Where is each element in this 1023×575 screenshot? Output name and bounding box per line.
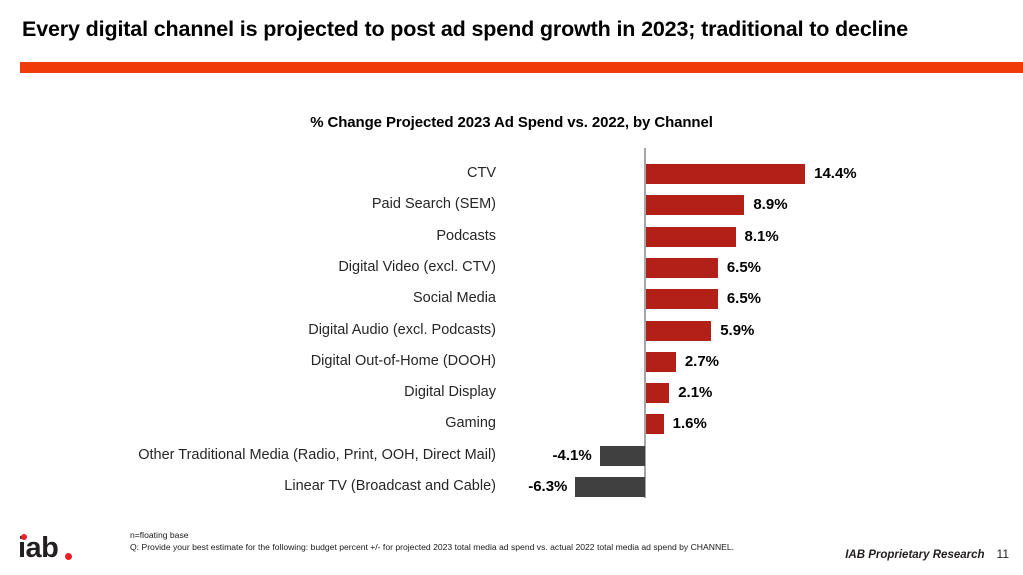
bar [575, 477, 645, 497]
value-label: 14.4% [814, 158, 857, 189]
category-label: CTV [467, 158, 496, 189]
bar [646, 289, 718, 309]
bar-chart: CTV14.4%Paid Search (SEM)8.9%Podcasts8.1… [0, 148, 1023, 500]
bar-row: CTV14.4% [0, 158, 1023, 189]
value-label: 2.7% [685, 346, 719, 377]
bar-row: Paid Search (SEM)8.9% [0, 189, 1023, 220]
bar [646, 352, 676, 372]
value-label: -6.3% [528, 471, 567, 502]
bar-row: Social Media6.5% [0, 283, 1023, 314]
value-label: 6.5% [727, 283, 761, 314]
category-label: Paid Search (SEM) [372, 189, 496, 220]
category-label: Podcasts [436, 221, 496, 252]
bar-row: Digital Out-of-Home (DOOH)2.7% [0, 346, 1023, 377]
footnotes: n=floating base Q: Provide your best est… [130, 530, 734, 553]
footnote-question: Q: Provide your best estimate for the fo… [130, 542, 734, 554]
bar-row: Digital Audio (excl. Podcasts)5.9% [0, 315, 1023, 346]
bar [646, 383, 669, 403]
bar-row: Digital Display2.1% [0, 377, 1023, 408]
bar [600, 446, 645, 466]
bar-row: Gaming1.6% [0, 408, 1023, 439]
value-label: -4.1% [553, 440, 592, 471]
category-label: Digital Out-of-Home (DOOH) [311, 346, 496, 377]
value-label: 8.1% [745, 221, 779, 252]
bar [646, 195, 744, 215]
category-label: Social Media [413, 283, 496, 314]
bar-row: Digital Video (excl. CTV)6.5% [0, 252, 1023, 283]
value-label: 6.5% [727, 252, 761, 283]
category-label: Gaming [445, 408, 496, 439]
value-label: 5.9% [720, 315, 754, 346]
logo-period-dot-icon [65, 553, 72, 560]
bar [646, 414, 664, 434]
value-label: 8.9% [753, 189, 787, 220]
page-title: Every digital channel is projected to po… [22, 17, 1012, 43]
logo-i-dot-icon [21, 534, 27, 540]
proprietary-label: IAB Proprietary Research [845, 549, 984, 561]
category-label: Digital Video (excl. CTV) [338, 252, 496, 283]
title-accent-rule [20, 62, 1023, 73]
footnote-base: n=floating base [130, 530, 734, 542]
bar [646, 164, 805, 184]
footer-right: IAB Proprietary Research11 [845, 547, 1009, 561]
bar [646, 321, 711, 341]
bar-row: Other Traditional Media (Radio, Print, O… [0, 440, 1023, 471]
bar [646, 227, 736, 247]
category-label: Digital Audio (excl. Podcasts) [308, 315, 496, 346]
category-label: Digital Display [404, 377, 496, 408]
iab-logo: iab [18, 531, 82, 565]
page-number: 11 [997, 547, 1009, 561]
bar [646, 258, 718, 278]
chart-title: % Change Projected 2023 Ad Spend vs. 202… [0, 114, 1023, 131]
value-label: 2.1% [678, 377, 712, 408]
value-label: 1.6% [673, 408, 707, 439]
category-label: Linear TV (Broadcast and Cable) [284, 471, 496, 502]
bar-row: Podcasts8.1% [0, 221, 1023, 252]
bar-row: Linear TV (Broadcast and Cable)-6.3% [0, 471, 1023, 502]
category-label: Other Traditional Media (Radio, Print, O… [138, 440, 496, 471]
